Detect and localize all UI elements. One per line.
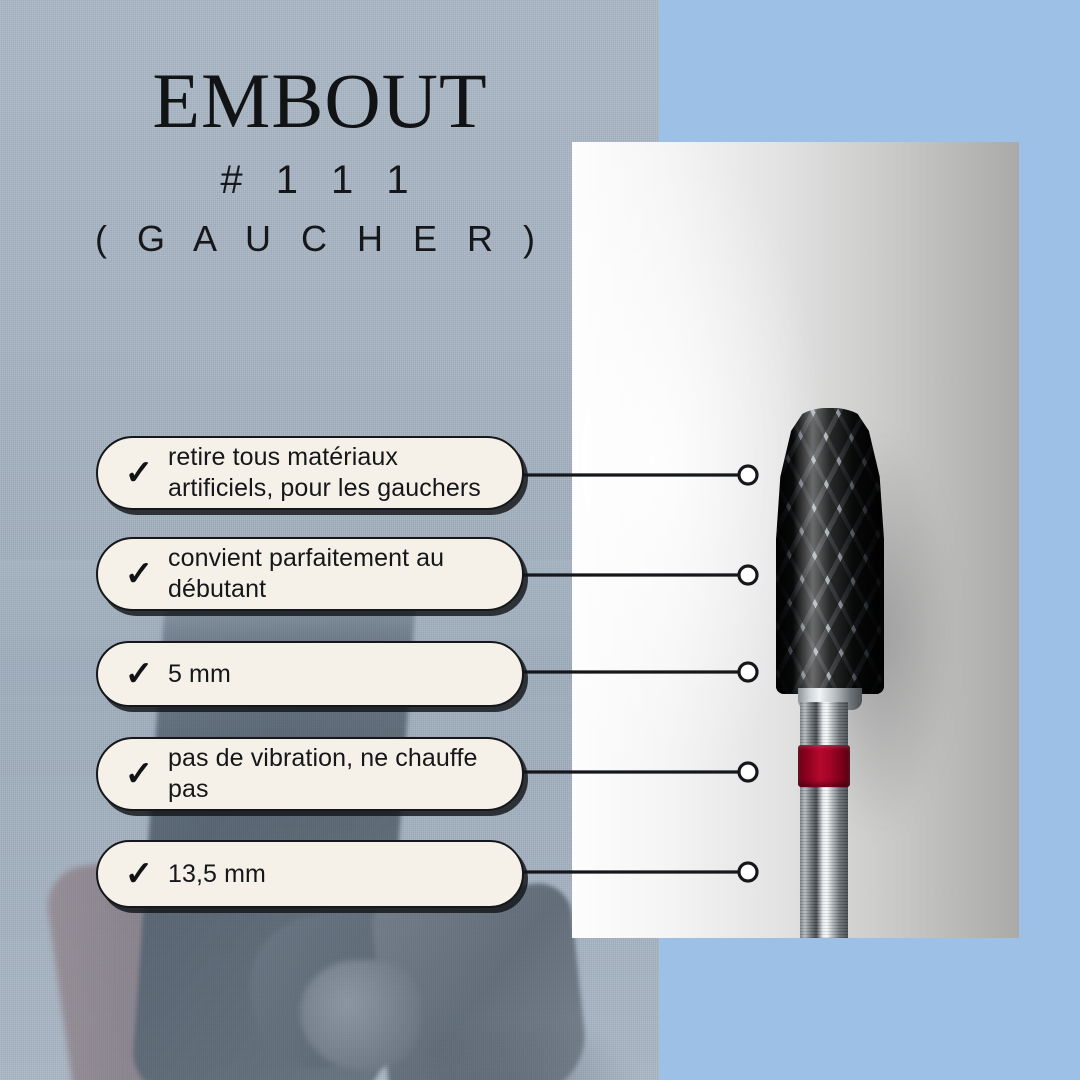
feature-label: pas de vibration, ne chauffe pas bbox=[168, 743, 506, 805]
feature-item[interactable]: ✓ pas de vibration, ne chauffe pas bbox=[96, 737, 524, 811]
check-icon: ✓ bbox=[116, 456, 162, 490]
feature-label: retire tous matériaux artificiels, pour … bbox=[168, 442, 506, 504]
feature-label: 5 mm bbox=[168, 659, 506, 690]
check-icon: ✓ bbox=[116, 657, 162, 691]
check-icon: ✓ bbox=[116, 857, 162, 891]
check-icon: ✓ bbox=[116, 757, 162, 791]
feature-item[interactable]: ✓ 13,5 mm bbox=[96, 840, 524, 908]
feature-item[interactable]: ✓ retire tous matériaux artificiels, pou… bbox=[96, 436, 524, 510]
poster-canvas: EMBOUT # 1 1 1 ( G A U C H E R ) ✓ retir… bbox=[0, 0, 1080, 1080]
feature-list: ✓ retire tous matériaux artificiels, pou… bbox=[0, 0, 1080, 1080]
feature-label: convient parfaitement au débutant bbox=[168, 543, 506, 605]
check-icon: ✓ bbox=[116, 557, 162, 591]
feature-item[interactable]: ✓ 5 mm bbox=[96, 641, 524, 707]
feature-label: 13,5 mm bbox=[168, 859, 506, 890]
feature-item[interactable]: ✓ convient parfaitement au débutant bbox=[96, 537, 524, 611]
